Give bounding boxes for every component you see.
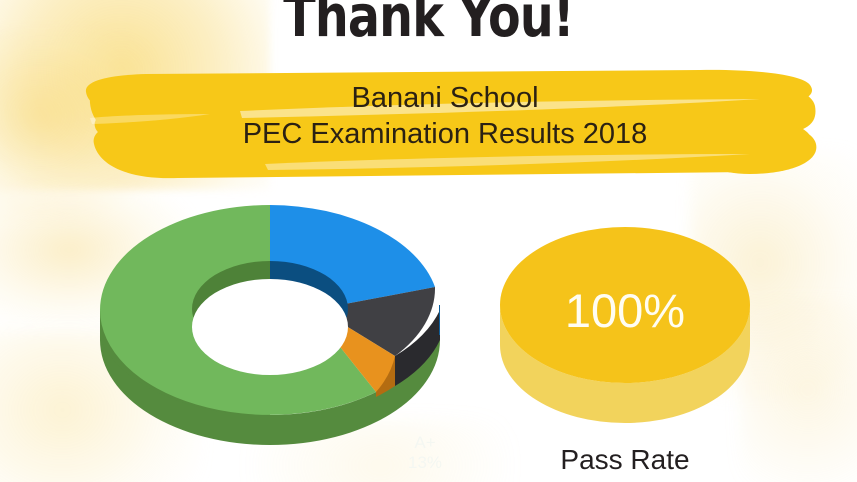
donut-side-aplus [439, 305, 440, 335]
slide-canvas: Thank You! Banani Sc [0, 0, 857, 482]
pass-rate-value: 100% [495, 283, 755, 338]
school-name: Banani School [60, 80, 830, 116]
pass-rate-caption: Pass Rate [495, 444, 755, 476]
donut-chart-graphic [95, 205, 465, 475]
exam-result-line: PEC Examination Results 2018 [60, 116, 830, 152]
page-title: Thank You! [77, 0, 780, 47]
donut-hole [192, 279, 348, 375]
watercolor-wash-right-lower [740, 300, 857, 482]
banner-text-block: Banani School PEC Examination Results 20… [60, 80, 830, 152]
grade-distribution-donut-chart[interactable]: A+ 13% A- 12% A 75% [95, 205, 465, 475]
